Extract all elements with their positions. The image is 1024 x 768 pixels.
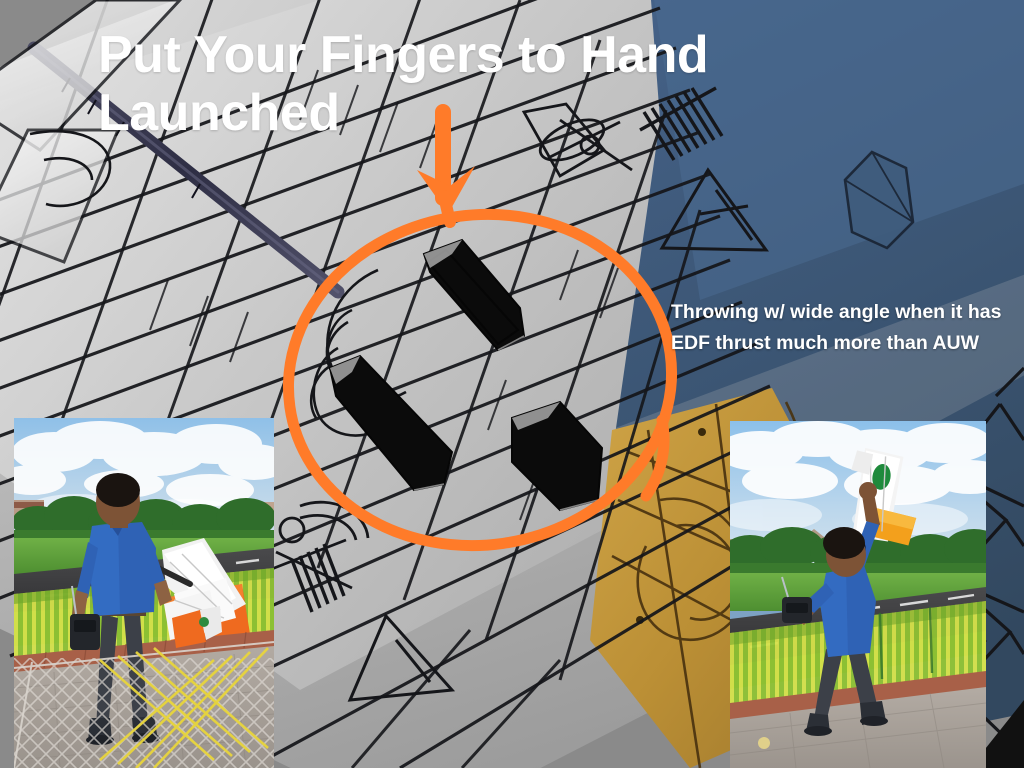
slide-canvas: Put Your Fingers to Hand Launched Throwi… [0,0,1024,768]
orange-highlight-ellipse [267,190,693,570]
slide-body-text: Throwing w/ wide angle when it has EDF t… [671,297,1019,359]
photo-carrying-plane [14,418,274,768]
photo-hand-launching-plane [730,421,986,768]
slide-title: Put Your Fingers to Hand Launched [98,26,888,142]
